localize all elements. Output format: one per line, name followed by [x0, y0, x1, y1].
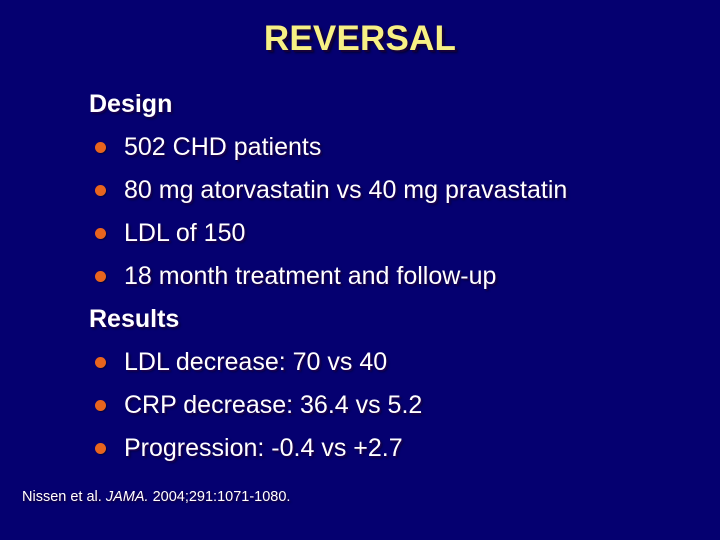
heading-label: Results: [89, 298, 179, 341]
bullet-item: 18 month treatment and follow-up: [0, 255, 720, 298]
bullet-dot-icon: [95, 443, 106, 454]
citation-authors: Nissen et al.: [22, 489, 102, 505]
bullet-label: 18 month treatment and follow-up: [124, 255, 496, 298]
bullet-item: LDL of 150: [0, 212, 720, 255]
bullet-dot-icon: [95, 271, 106, 282]
bullet-item: LDL decrease: 70 vs 40: [0, 341, 720, 384]
bullet-item: Progression: -0.4 vs +2.7: [0, 427, 720, 470]
slide-body: Design 502 CHD patients 80 mg atorvastat…: [0, 83, 720, 470]
bullet-item: 502 CHD patients: [0, 126, 720, 169]
bullet-item: 80 mg atorvastatin vs 40 mg pravastatin: [0, 169, 720, 212]
bullet-label: LDL of 150: [124, 212, 245, 255]
slide-title: REVERSAL: [0, 21, 720, 58]
bullet-dot-icon: [95, 400, 106, 411]
bullet-label: 502 CHD patients: [124, 126, 321, 169]
bullet-label: LDL decrease: 70 vs 40: [124, 341, 387, 384]
bullet-dot-icon: [95, 228, 106, 239]
bullet-label: Progression: -0.4 vs +2.7: [124, 427, 403, 470]
citation-journal: JAMA.: [106, 489, 149, 505]
section-heading-design: Design: [0, 83, 720, 126]
bullet-label: CRP decrease: 36.4 vs 5.2: [124, 384, 422, 427]
bullet-item: CRP decrease: 36.4 vs 5.2: [0, 384, 720, 427]
citation-reference: 2004;291:1071-1080.: [153, 489, 291, 505]
bullet-dot-icon: [95, 142, 106, 153]
bullet-label: 80 mg atorvastatin vs 40 mg pravastatin: [124, 169, 567, 212]
bullet-dot-icon: [95, 357, 106, 368]
citation: Nissen et al. JAMA. 2004;291:1071-1080.: [22, 489, 290, 505]
bullet-dot-icon: [95, 185, 106, 196]
slide: REVERSAL Design 502 CHD patients 80 mg a…: [0, 0, 720, 540]
heading-label: Design: [89, 83, 172, 126]
section-heading-results: Results: [0, 298, 720, 341]
